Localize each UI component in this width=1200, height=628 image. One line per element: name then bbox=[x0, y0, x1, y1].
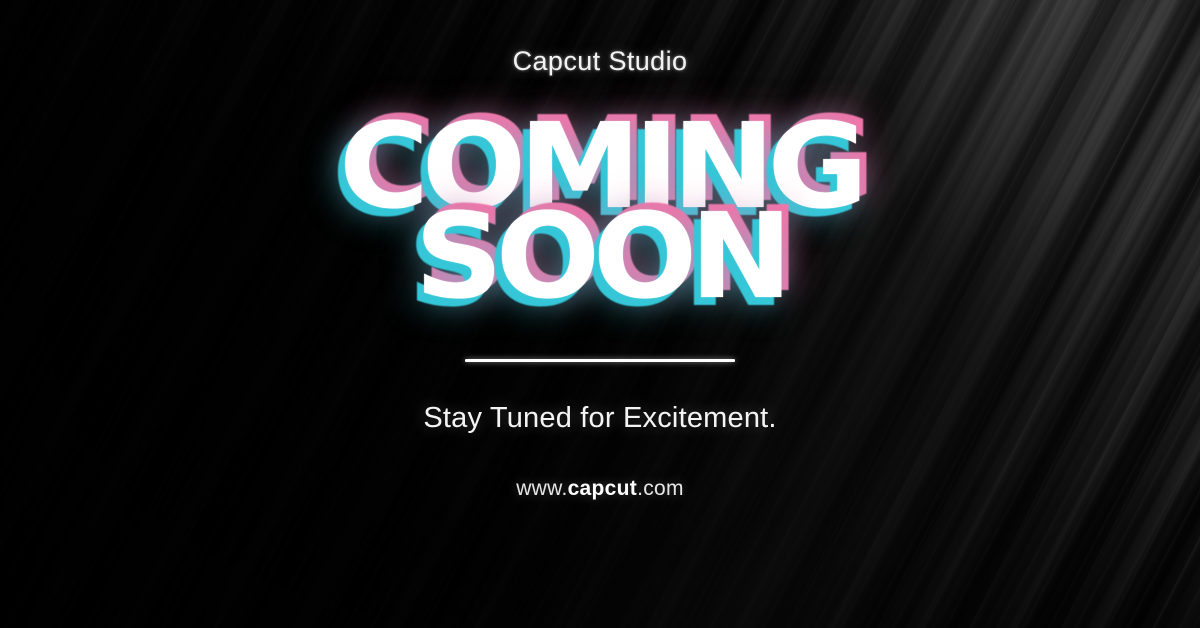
tagline-text: Stay Tuned for Excitement. bbox=[423, 402, 776, 435]
headline-line-soon-text: SOON bbox=[415, 187, 786, 325]
url-domain: capcut bbox=[568, 477, 638, 500]
divider-rule bbox=[465, 359, 735, 362]
headline-block: COMING COMING COMING SOON SOON SOON bbox=[0, 115, 1200, 309]
coming-soon-poster: Capcut Studio COMING COMING COMING SOON … bbox=[0, 0, 1200, 628]
url-suffix: .com bbox=[637, 477, 684, 500]
headline-line-soon: SOON SOON SOON bbox=[0, 205, 1200, 309]
url-prefix: www. bbox=[516, 477, 567, 500]
brand-title: Capcut Studio bbox=[513, 46, 688, 77]
website-url[interactable]: www.capcut.com bbox=[516, 477, 684, 501]
poster-content: Capcut Studio COMING COMING COMING SOON … bbox=[0, 0, 1200, 628]
